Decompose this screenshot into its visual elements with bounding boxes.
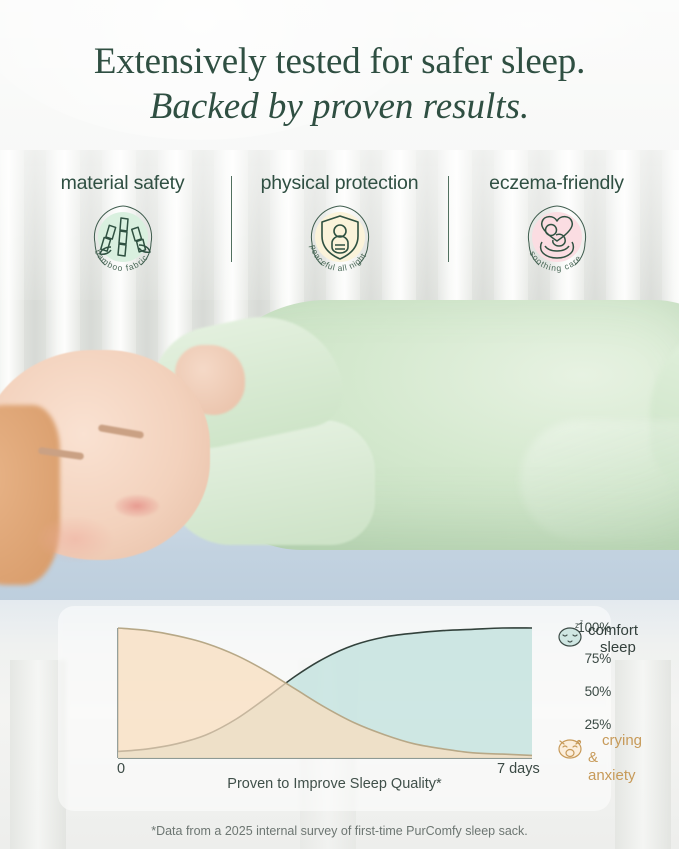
legend-label: comfort	[588, 622, 638, 639]
legend-label: sleep	[588, 639, 638, 656]
feature-label: eczema-friendly	[489, 172, 624, 195]
page-title: Extensively tested for safer sleep. Back…	[0, 42, 679, 126]
badge-bamboo-fabric: bamboo fabric	[81, 197, 165, 281]
feature-eczema-friendly[interactable]: eczema-friendly	[448, 172, 665, 284]
baby-head	[0, 350, 210, 560]
legend-label: crying	[588, 732, 642, 749]
x-tick-end: 7 days	[497, 761, 540, 777]
badge-peaceful-all-night: peaceful all night	[298, 197, 382, 281]
svg-text:z: z	[580, 620, 583, 626]
chart-caption: Proven to Improve Sleep Quality*	[58, 776, 611, 792]
x-tick-start: 0	[117, 761, 125, 777]
headline-line-2: Backed by proven results.	[0, 87, 679, 126]
baby-cheek	[35, 515, 115, 563]
y-tick-25: 25%	[556, 717, 611, 732]
sleeping-baby-icon: z z	[556, 620, 586, 648]
sleep-quality-chart: 100% 75% 50% 25% 0 7 days Proven to Impr…	[58, 606, 611, 811]
sack-fold	[520, 420, 679, 540]
headline-line-1: Extensively tested for safer sleep.	[0, 42, 679, 81]
feature-row: material safety	[14, 172, 665, 284]
promo-graphic: Extensively tested for safer sleep. Back…	[0, 0, 679, 849]
y-tick-50: 50%	[556, 684, 611, 699]
legend-crying-anxiety: crying & anxiety	[588, 732, 642, 784]
baby-mouth	[115, 495, 159, 517]
feature-material-safety[interactable]: material safety	[14, 172, 231, 284]
feature-physical-protection[interactable]: physical protection p	[231, 172, 448, 284]
feature-label: material safety	[61, 172, 185, 195]
legend-label: & anxiety	[588, 749, 642, 784]
chart-series-layer	[118, 628, 532, 758]
badge-soothing-care: soothing care	[515, 197, 599, 281]
crying-baby-icon	[556, 732, 586, 760]
svg-text:z: z	[575, 621, 579, 630]
baby-eye	[98, 424, 145, 439]
baby-photo	[0, 290, 679, 620]
feature-label: physical protection	[261, 172, 419, 195]
footnote: *Data from a 2025 internal survey of fir…	[0, 824, 679, 838]
legend-comfort-sleep: comfort sleep	[588, 622, 638, 657]
